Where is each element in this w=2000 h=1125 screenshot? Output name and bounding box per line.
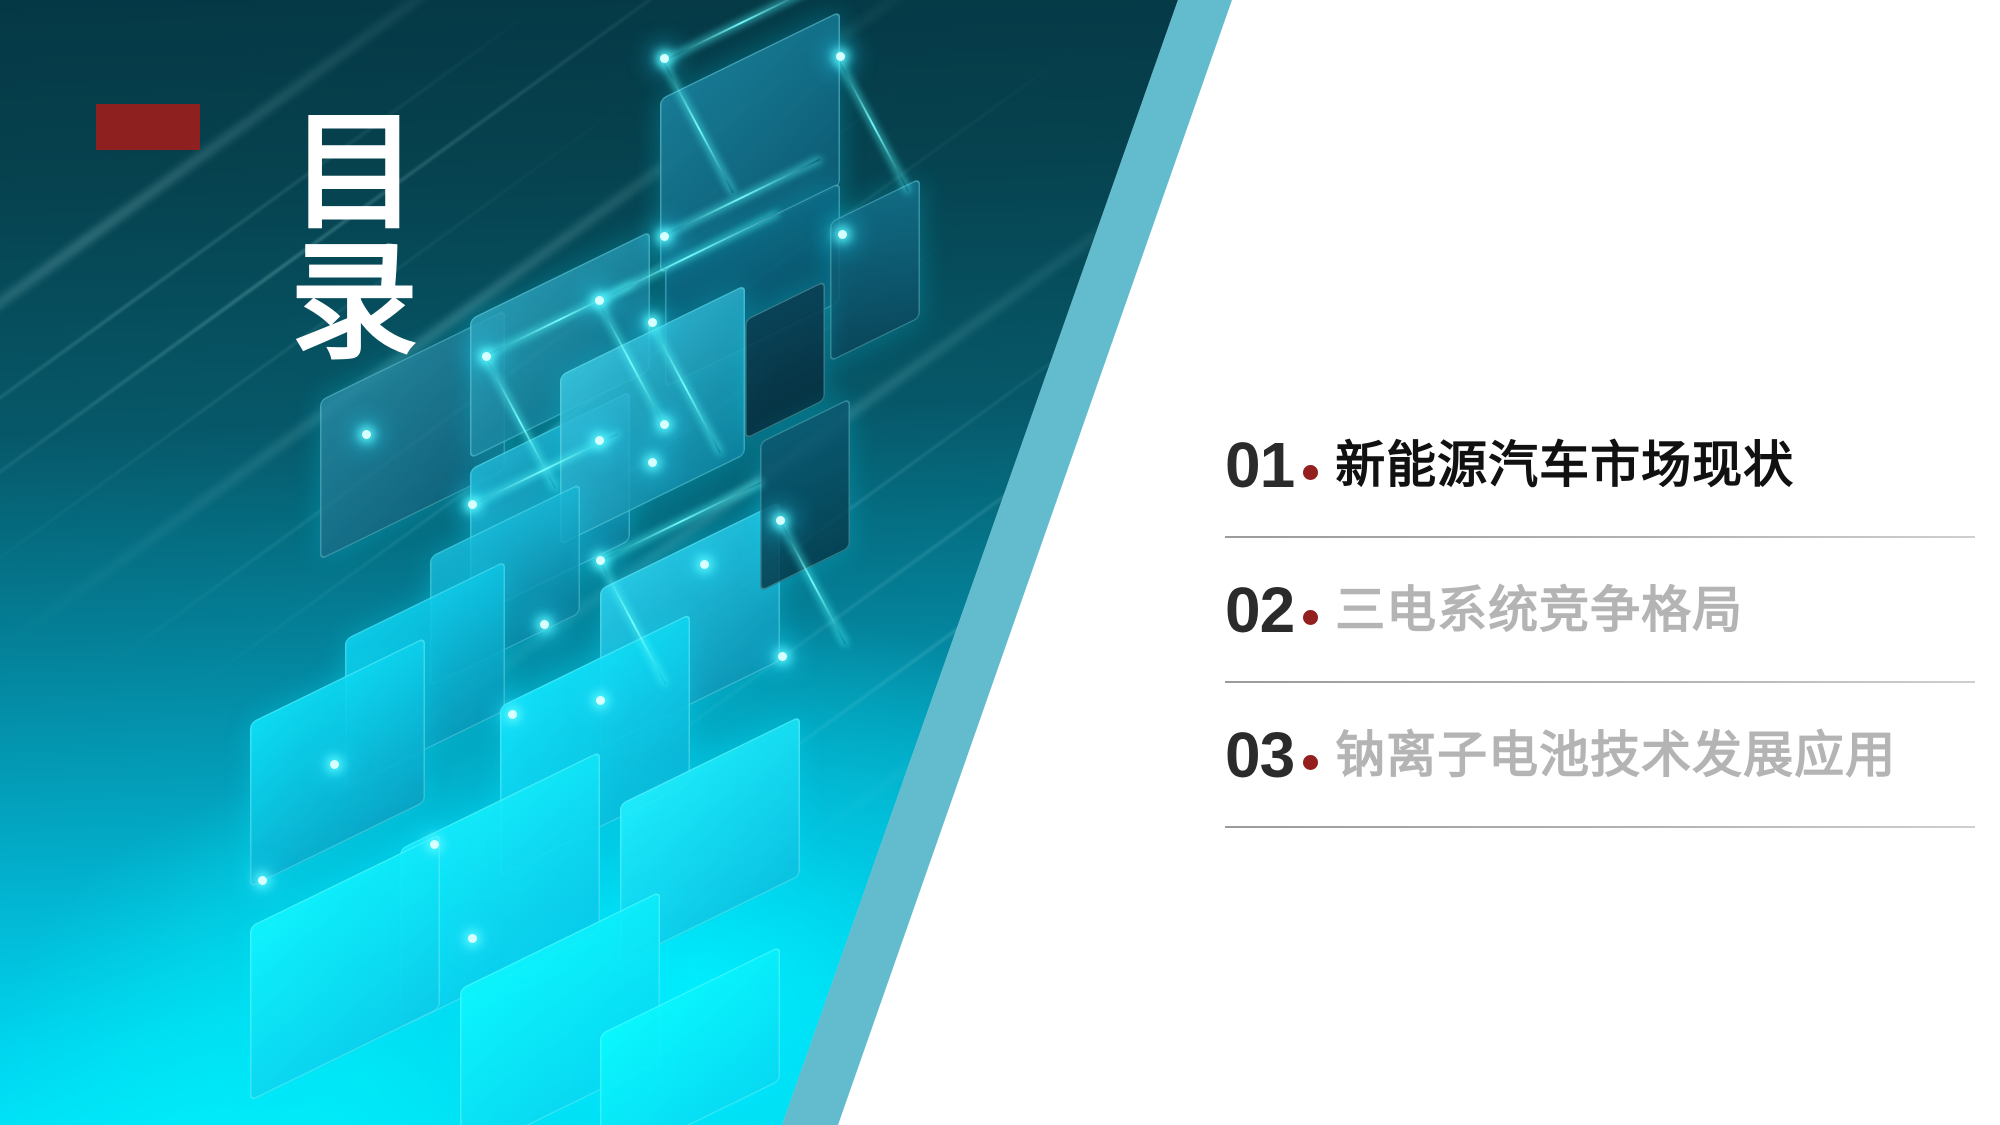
toc-item-03[interactable]: 03 钠离子电池技术发展应用 [1225, 705, 1977, 850]
toc-number-02: 02 [1225, 578, 1294, 642]
toc-label-03: 钠离子电池技术发展应用 [1335, 730, 1896, 780]
toc-number-03: 03 [1225, 723, 1294, 787]
toc-label-02: 三电系统竞争格局 [1335, 585, 1743, 635]
page-title-cn: 目录 [274, 104, 410, 364]
toc-divider [1225, 681, 1975, 683]
toc-label-01: 新能源汽车市场现状 [1335, 440, 1794, 490]
toc-divider [1225, 536, 1975, 538]
table-of-contents: 01 新能源汽车市场现状 02 三电系统竞争格局 03 钠离子电池技术发展应用 [1225, 415, 1977, 850]
bullet-dot-icon [1303, 755, 1318, 770]
bullet-dot-icon [1303, 610, 1318, 625]
page-title-en: CONTENTS [0, 254, 4, 724]
toc-number-01: 01 [1225, 433, 1294, 497]
red-accent-bar [96, 104, 200, 150]
toc-item-01[interactable]: 01 新能源汽车市场现状 [1225, 415, 1977, 560]
toc-item-02[interactable]: 02 三电系统竞争格局 [1225, 560, 1977, 705]
bullet-dot-icon [1303, 465, 1318, 480]
toc-divider [1225, 826, 1975, 828]
slide-root: 目录 CONTENTS 01 新能源汽车市场现状 02 三电系统竞争格局 03 [0, 0, 2000, 1125]
slide-heading: 目录 CONTENTS [96, 104, 426, 664]
